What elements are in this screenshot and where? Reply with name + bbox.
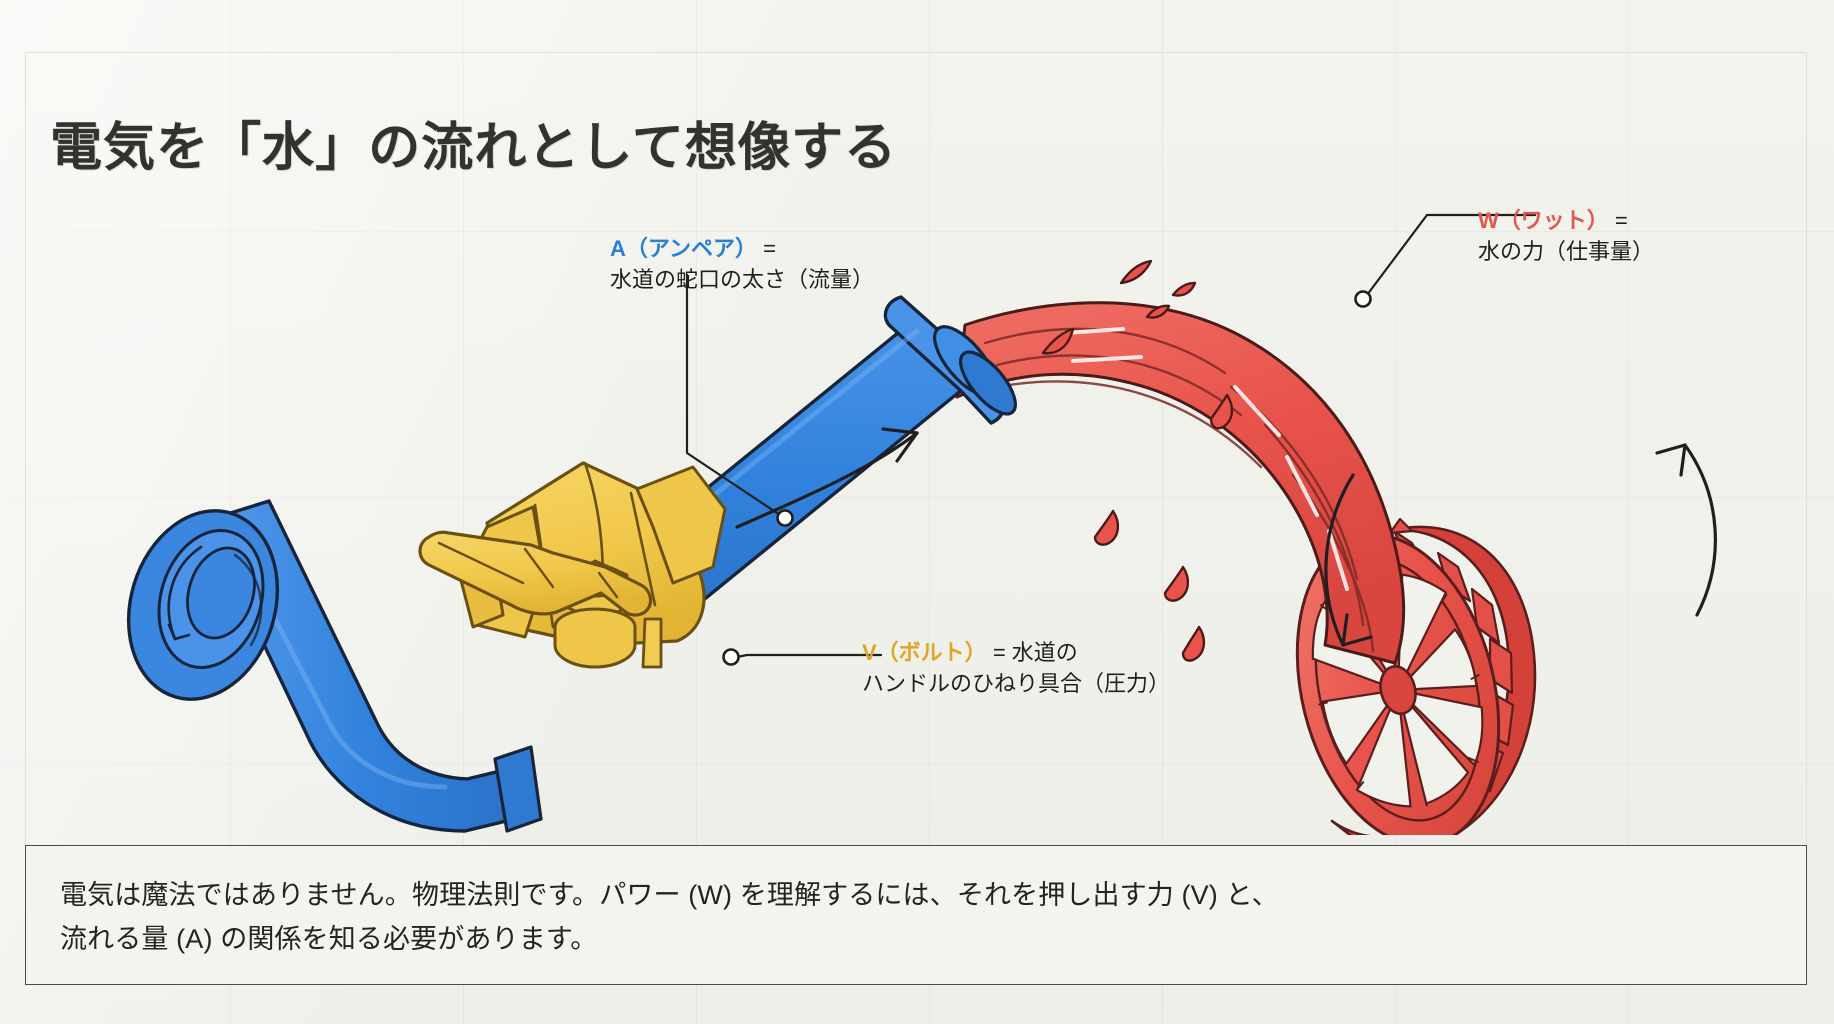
endpoint-watt bbox=[1356, 292, 1371, 307]
annotation-volt: V（ボルト） = 水道の ハンドルのひねり具合（圧力） bbox=[862, 637, 1170, 699]
plumbing-analogy-illustration bbox=[25, 175, 1809, 835]
annotation-volt-line1: V（ボルト） = 水道の bbox=[862, 637, 1170, 668]
annotation-volt-key: V（ボルト） bbox=[862, 640, 987, 665]
annotation-watt-line1: W（ワット） = bbox=[1478, 205, 1654, 236]
annotation-ampere-key: A（アンペア） bbox=[610, 236, 757, 261]
annotation-volt-equals: = bbox=[993, 640, 1006, 665]
page-title: 電気を「水」の流れとして想像する bbox=[50, 105, 897, 180]
annotation-ampere-line1: A（アンペア） = bbox=[610, 233, 874, 264]
water-wheel bbox=[1267, 513, 1535, 835]
endpoint-ampere bbox=[778, 511, 793, 526]
water-jet bbox=[957, 261, 1404, 663]
annotation-ampere-line2: 水道の蛇口の太さ（流量） bbox=[610, 264, 874, 295]
annotation-watt-line2: 水の力（仕事量） bbox=[1478, 236, 1654, 267]
annotation-watt: W（ワット） = 水の力（仕事量） bbox=[1478, 205, 1654, 267]
endpoint-volt bbox=[724, 650, 739, 665]
annotation-volt-line1-tail: 水道の bbox=[1012, 640, 1078, 665]
annotation-ampere: A（アンペア） = 水道の蛇口の太さ（流量） bbox=[610, 233, 874, 295]
caption-line-2: 流れる量 (A) の関係を知る必要があります。 bbox=[60, 918, 1772, 962]
annotation-volt-line2: ハンドルのひねり具合（圧力） bbox=[862, 668, 1170, 699]
annotation-ampere-equals: = bbox=[763, 236, 776, 261]
annotation-watt-key: W（ワット） bbox=[1478, 208, 1609, 233]
caption-line-1: 電気は魔法ではありません。物理法則です。パワー (W) を理解するには、それを押… bbox=[60, 874, 1772, 918]
caption-box: 電気は魔法ではありません。物理法則です。パワー (W) を理解するには、それを押… bbox=[25, 845, 1807, 985]
annotation-watt-equals: = bbox=[1615, 208, 1628, 233]
